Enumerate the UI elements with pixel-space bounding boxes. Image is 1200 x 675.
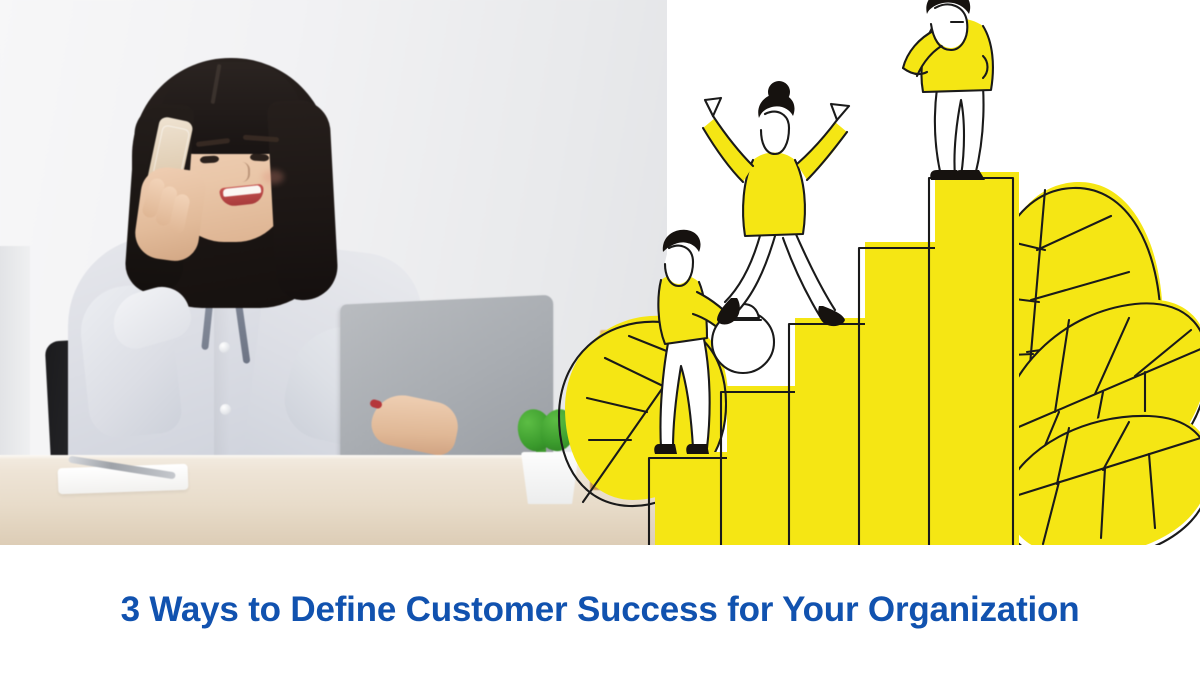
nose — [236, 162, 250, 182]
growth-chart-illustration: .fill{fill:#F5E614;} .ln{fill:none;strok… — [617, 0, 1200, 545]
bar-4-fill — [865, 242, 947, 545]
bar-1-fill — [655, 452, 737, 545]
bar-5-fill — [935, 172, 1019, 545]
succulent-pot — [521, 452, 579, 504]
hero-illustration: .fill{fill:#F5E614;} .ln{fill:none;strok… — [667, 0, 1200, 545]
hair-strand-right — [267, 99, 339, 302]
bar-2-fill — [727, 386, 805, 545]
blouse-button — [219, 342, 230, 353]
blouse-button — [220, 404, 231, 415]
cheek-blush — [262, 170, 284, 184]
wall-seam — [0, 246, 30, 470]
figure-looking-ahead — [903, 0, 993, 180]
eye-right — [250, 154, 269, 162]
page-title: 3 Ways to Define Customer Success for Yo… — [121, 587, 1080, 633]
page-canvas: .fill{fill:#F5E614;} .ln{fill:none;strok… — [0, 0, 1200, 675]
bar-3-fill — [795, 318, 875, 545]
figure-celebrating — [703, 81, 849, 326]
title-section: 3 Ways to Define Customer Success for Yo… — [0, 545, 1200, 675]
hero-banner: .fill{fill:#F5E614;} .ln{fill:none;strok… — [0, 0, 1200, 545]
